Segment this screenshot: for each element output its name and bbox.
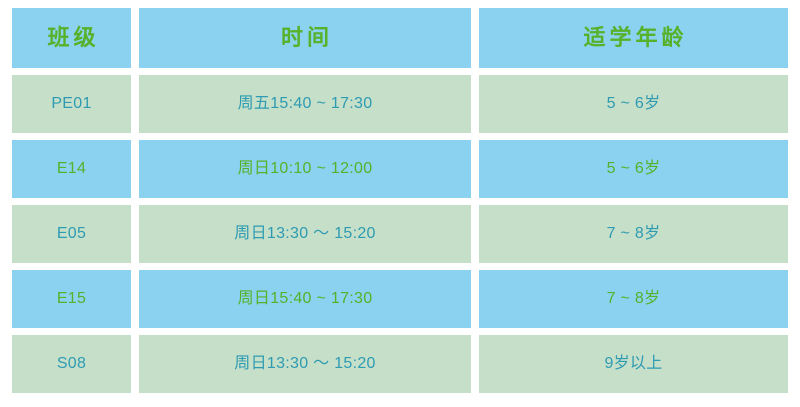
cell-class: E15 — [12, 270, 131, 328]
cell-class: E14 — [12, 140, 131, 198]
cell-time: 周日13:30 ～ 15:20 — [139, 335, 471, 393]
cell-age: 7 ~ 8岁 — [479, 270, 788, 328]
column-header-age: 适学年龄 — [479, 8, 788, 68]
cell-class: E05 — [12, 205, 131, 263]
cell-time: 周五15:40 ~ 17:30 — [139, 75, 471, 133]
table-row: S08 周日13:30 ～ 15:20 9岁以上 — [12, 335, 787, 393]
table-header-row: 班级 时间 适学年龄 — [12, 8, 787, 68]
cell-age: 9岁以上 — [479, 335, 788, 393]
cell-class: S08 — [12, 335, 131, 393]
cell-time: 周日13:30 ～ 15:20 — [139, 205, 471, 263]
table-row: E15 周日15:40 ~ 17:30 7 ~ 8岁 — [12, 270, 787, 328]
column-header-class: 班级 — [12, 8, 131, 68]
table-row: E05 周日13:30 ～ 15:20 7 ~ 8岁 — [12, 205, 787, 263]
table-row: E14 周日10:10 ~ 12:00 5 ~ 6岁 — [12, 140, 787, 198]
column-header-time: 时间 — [139, 8, 471, 68]
class-schedule-table: 班级 时间 适学年龄 PE01 周五15:40 ~ 17:30 5 ~ 6岁 E… — [12, 8, 787, 399]
cell-age: 5 ~ 6岁 — [479, 75, 788, 133]
cell-age: 7 ~ 8岁 — [479, 205, 788, 263]
cell-time: 周日10:10 ~ 12:00 — [139, 140, 471, 198]
cell-age: 5 ~ 6岁 — [479, 140, 788, 198]
cell-class: PE01 — [12, 75, 131, 133]
cell-time: 周日15:40 ~ 17:30 — [139, 270, 471, 328]
table-row: PE01 周五15:40 ~ 17:30 5 ~ 6岁 — [12, 75, 787, 133]
